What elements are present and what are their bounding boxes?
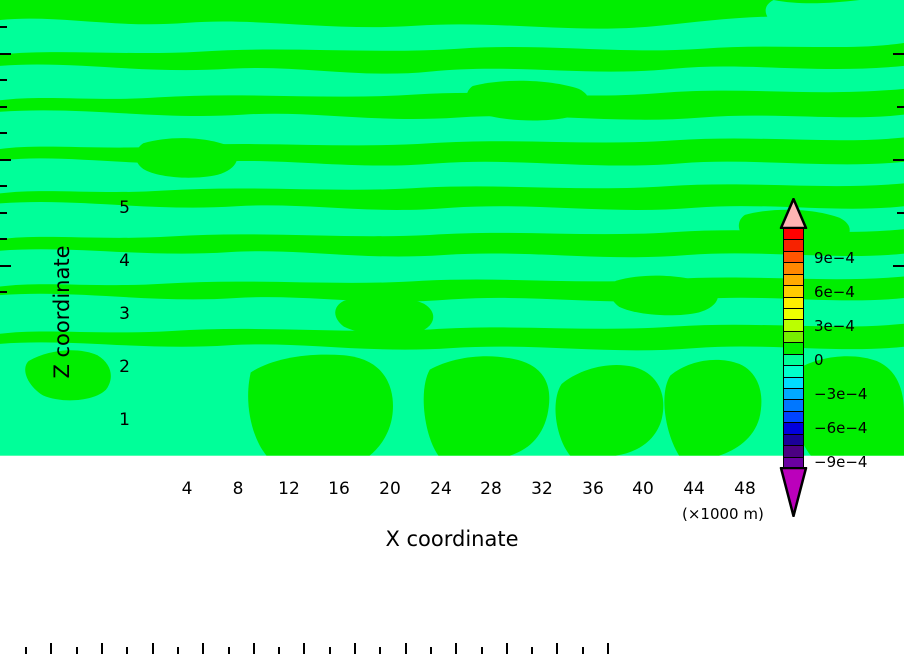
- x-tick-label: 48: [734, 479, 756, 499]
- colorbar-tick-label: −9e−4: [814, 453, 867, 471]
- x-tick-label: 8: [233, 479, 244, 499]
- y-tick-mark: [0, 79, 7, 81]
- x-tick-label: 16: [328, 479, 350, 499]
- y-tick-label: 3: [119, 304, 130, 324]
- y-tick-label: 2: [119, 357, 130, 377]
- colorbar-overflow-arrow-bottom: [779, 467, 808, 517]
- x-tick-label: 40: [632, 479, 654, 499]
- colorbar-tick-label: 9e−4: [814, 249, 855, 267]
- y-tick-mark: [0, 265, 11, 267]
- y-tick-mark: [0, 53, 11, 55]
- y-tick-mark: [0, 185, 7, 187]
- y-axis-title: Z coordinate: [50, 222, 74, 402]
- x-tick-label: 12: [278, 479, 300, 499]
- contour-plot-area[interactable]: [0, 29, 631, 347]
- x-axis-unit-label: (×1000 m): [682, 505, 764, 523]
- x-axis-title: X coordinate: [0, 527, 904, 551]
- x-tick-label: 24: [430, 479, 452, 499]
- x-tick-label: 36: [582, 479, 604, 499]
- colorbar-tick-label: 0: [814, 351, 824, 369]
- contour-field: [0, 29, 631, 347]
- colorbar[interactable]: [783, 228, 804, 468]
- y-tick-mark: [0, 159, 11, 161]
- y-tick-label: 4: [119, 251, 130, 271]
- colorbar-overflow-arrow-top: [779, 198, 808, 229]
- y-tick-mark: [0, 238, 7, 240]
- colorbar-tick-label: 6e−4: [814, 283, 855, 301]
- x-tick-label: 44: [683, 479, 705, 499]
- y-tick-label: 1: [119, 410, 130, 430]
- x-tick-label: 4: [182, 479, 193, 499]
- x-tick-label: 20: [379, 479, 401, 499]
- colorbar-tick-label: −3e−4: [814, 385, 867, 403]
- colorbar-tick-label: −6e−4: [814, 419, 867, 437]
- y-tick-mark: [0, 212, 7, 214]
- x-tick-label: 28: [480, 479, 502, 499]
- y-tick-mark: [0, 106, 7, 108]
- y-tick-mark: [0, 291, 7, 293]
- x-tick-label: 32: [531, 479, 553, 499]
- y-tick-mark: [0, 132, 7, 134]
- colorbar-tick-label: 3e−4: [814, 317, 855, 335]
- y-tick-label: 5: [119, 198, 130, 218]
